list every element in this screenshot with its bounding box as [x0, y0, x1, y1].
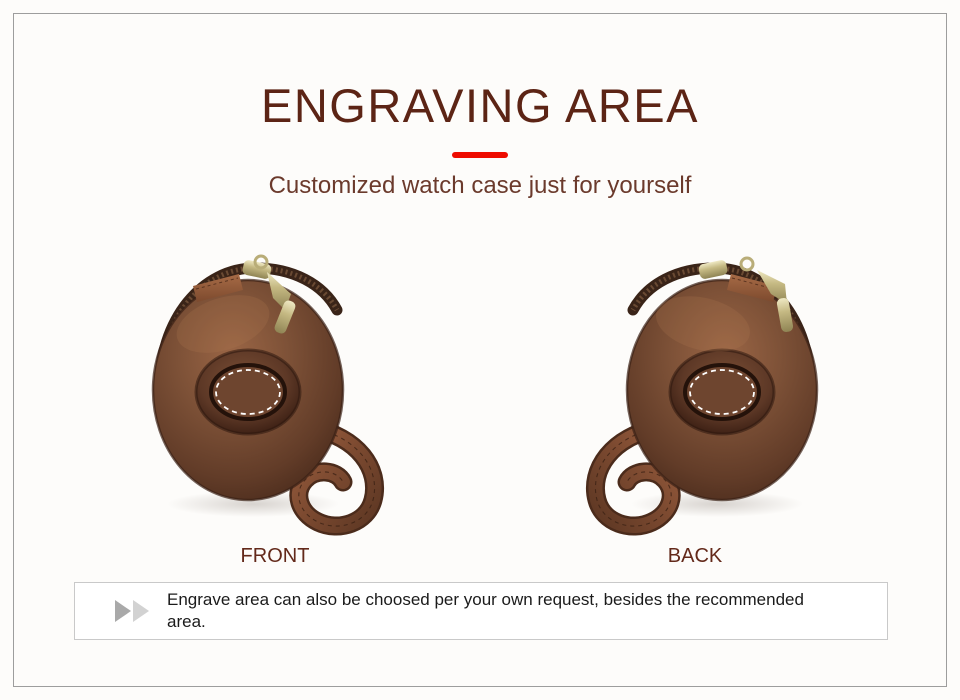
product-image-front — [115, 232, 435, 542]
header: ENGRAVING AREA Customized watch case jus… — [0, 78, 960, 201]
zipper-ring — [741, 258, 753, 270]
title-divider-wrap — [0, 145, 960, 152]
page-subtitle: Customized watch case just for yourself — [0, 171, 960, 201]
note-arrows — [115, 600, 149, 622]
arrow-right-icon-primary — [115, 600, 131, 622]
note-text: Engrave area can also be choosed per you… — [167, 589, 847, 633]
caption-back: BACK — [545, 543, 845, 569]
arrow-right-icon-secondary — [133, 600, 149, 622]
zipper-slider — [698, 259, 729, 279]
red-divider — [452, 152, 508, 158]
note-box: Engrave area can also be choosed per you… — [74, 582, 888, 640]
engraving-area-page: ENGRAVING AREA Customized watch case jus… — [0, 0, 960, 700]
product-captions: FRONT BACK — [0, 543, 960, 573]
product-image-back — [535, 232, 855, 542]
caption-front: FRONT — [125, 543, 425, 569]
page-title: ENGRAVING AREA — [0, 78, 960, 134]
product-gallery — [0, 232, 960, 542]
